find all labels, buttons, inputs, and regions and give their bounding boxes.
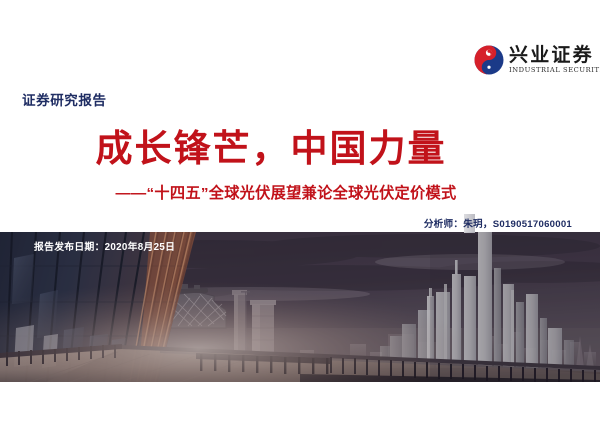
logo-name-cn: 兴业证券 — [509, 45, 594, 65]
page-title: 成长锋芒，中国力量 — [0, 127, 542, 171]
analyst-credit: 分析师：朱玥，S0190517060001 — [424, 216, 572, 230]
report-cover-page: 兴业证券 INDUSTRIAL SECURITIES 证券研究报告 成长锋芒，中… — [0, 0, 600, 424]
cover-photo — [0, 232, 600, 382]
logo-name-en: INDUSTRIAL SECURITIES — [509, 66, 600, 75]
company-logo: 兴业证券 INDUSTRIAL SECURITIES — [474, 44, 596, 84]
publish-date: 报告发布日期：2020年8月25日 — [34, 239, 175, 253]
logo-wordmark: 兴业证券 INDUSTRIAL SECURITIES — [509, 44, 600, 75]
page-subtitle: ——“十四五”全球光伏展望兼论全球光伏定价模式 — [0, 184, 572, 204]
industrial-securities-swirl-icon — [474, 45, 504, 75]
report-type-label: 证券研究报告 — [22, 89, 107, 109]
